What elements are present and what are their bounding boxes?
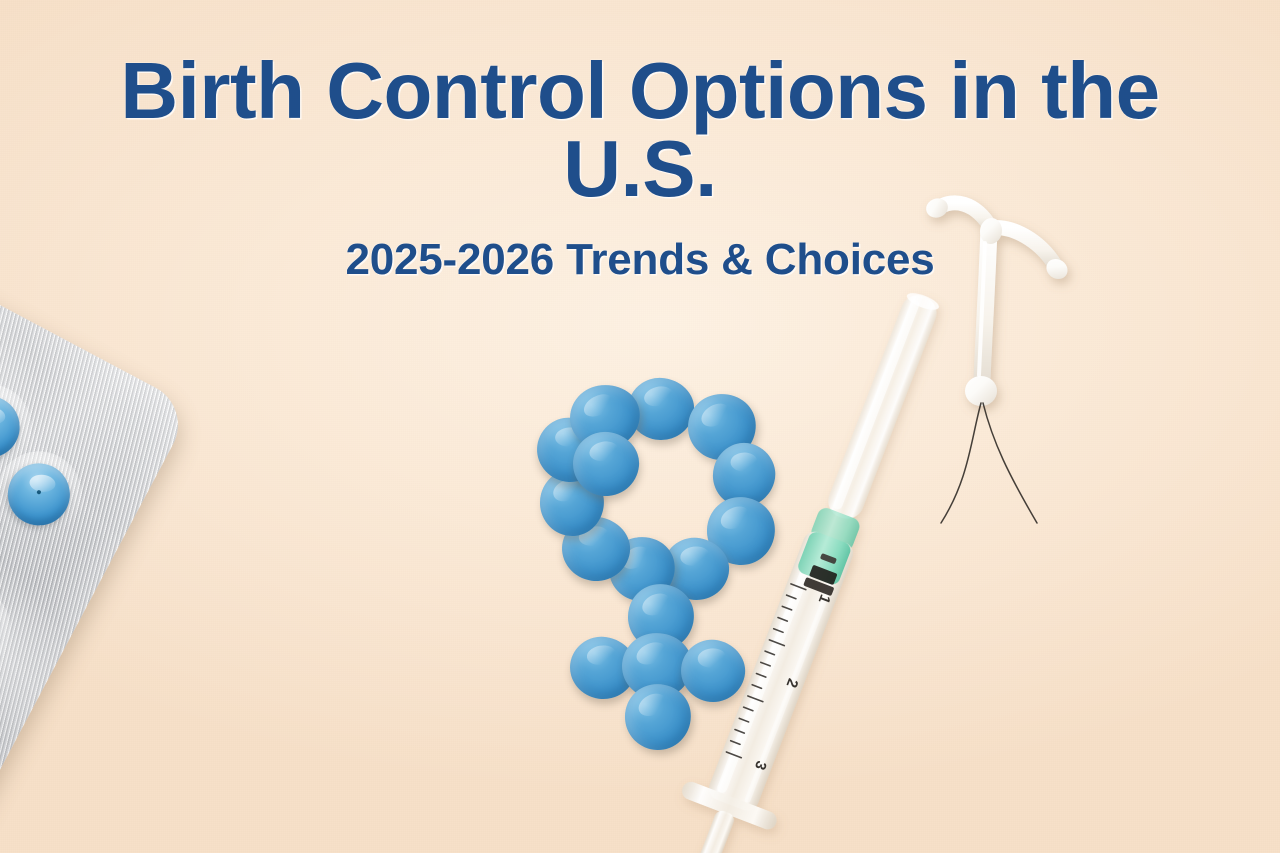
page-title: Birth Control Options in the U.S. — [0, 52, 1280, 209]
symbol-pill-ring — [658, 533, 734, 606]
symbol-pill-cross — [566, 633, 640, 704]
symbol-pill-ring — [570, 429, 642, 500]
pill-highlight — [717, 502, 753, 533]
symbol-pill-ring — [530, 411, 610, 489]
pill-highlight — [634, 689, 669, 720]
pill-highlight — [585, 643, 617, 666]
symbol-pill-ring — [682, 388, 762, 467]
pill-highlight — [577, 524, 610, 548]
pill-highlight — [550, 475, 584, 505]
pill-highlight — [730, 452, 758, 472]
symbol-pill-stem — [625, 581, 698, 654]
blister-pill — [0, 587, 9, 671]
blister-pill — [0, 452, 81, 536]
iud-device — [905, 193, 1165, 523]
pill-highlight — [554, 426, 584, 447]
pill-highlight — [697, 399, 733, 431]
pill-highlight — [634, 638, 670, 668]
blister-pocket — [0, 570, 26, 686]
symbol-pill-cross — [619, 630, 694, 702]
pill-highlight — [618, 542, 653, 574]
symbol-pill-ring — [558, 513, 634, 586]
symbol-pill-ring — [537, 467, 608, 539]
poster-canvas: 1 2 3 Birth Control Options in the U.S. … — [0, 0, 1280, 853]
pill-glint — [0, 406, 6, 426]
syringe-plunger-rod — [694, 809, 736, 853]
pill-highlight — [587, 438, 619, 463]
iud-strings — [941, 403, 1037, 523]
pill-highlight — [581, 389, 617, 420]
blister-pill-group — [0, 253, 193, 408]
blister-pack — [0, 253, 193, 853]
blister-foil-sheen — [0, 253, 193, 853]
symbol-pill-ring — [565, 379, 645, 454]
pill-highlight — [638, 589, 673, 619]
pill-glint — [29, 474, 57, 494]
pill-highlight — [642, 384, 675, 409]
blister-pill — [0, 385, 31, 469]
iud-arms — [924, 196, 1072, 406]
symbol-pill-ring — [602, 530, 682, 608]
pill-highlight — [679, 545, 710, 567]
symbol-pill-ring — [626, 376, 696, 442]
